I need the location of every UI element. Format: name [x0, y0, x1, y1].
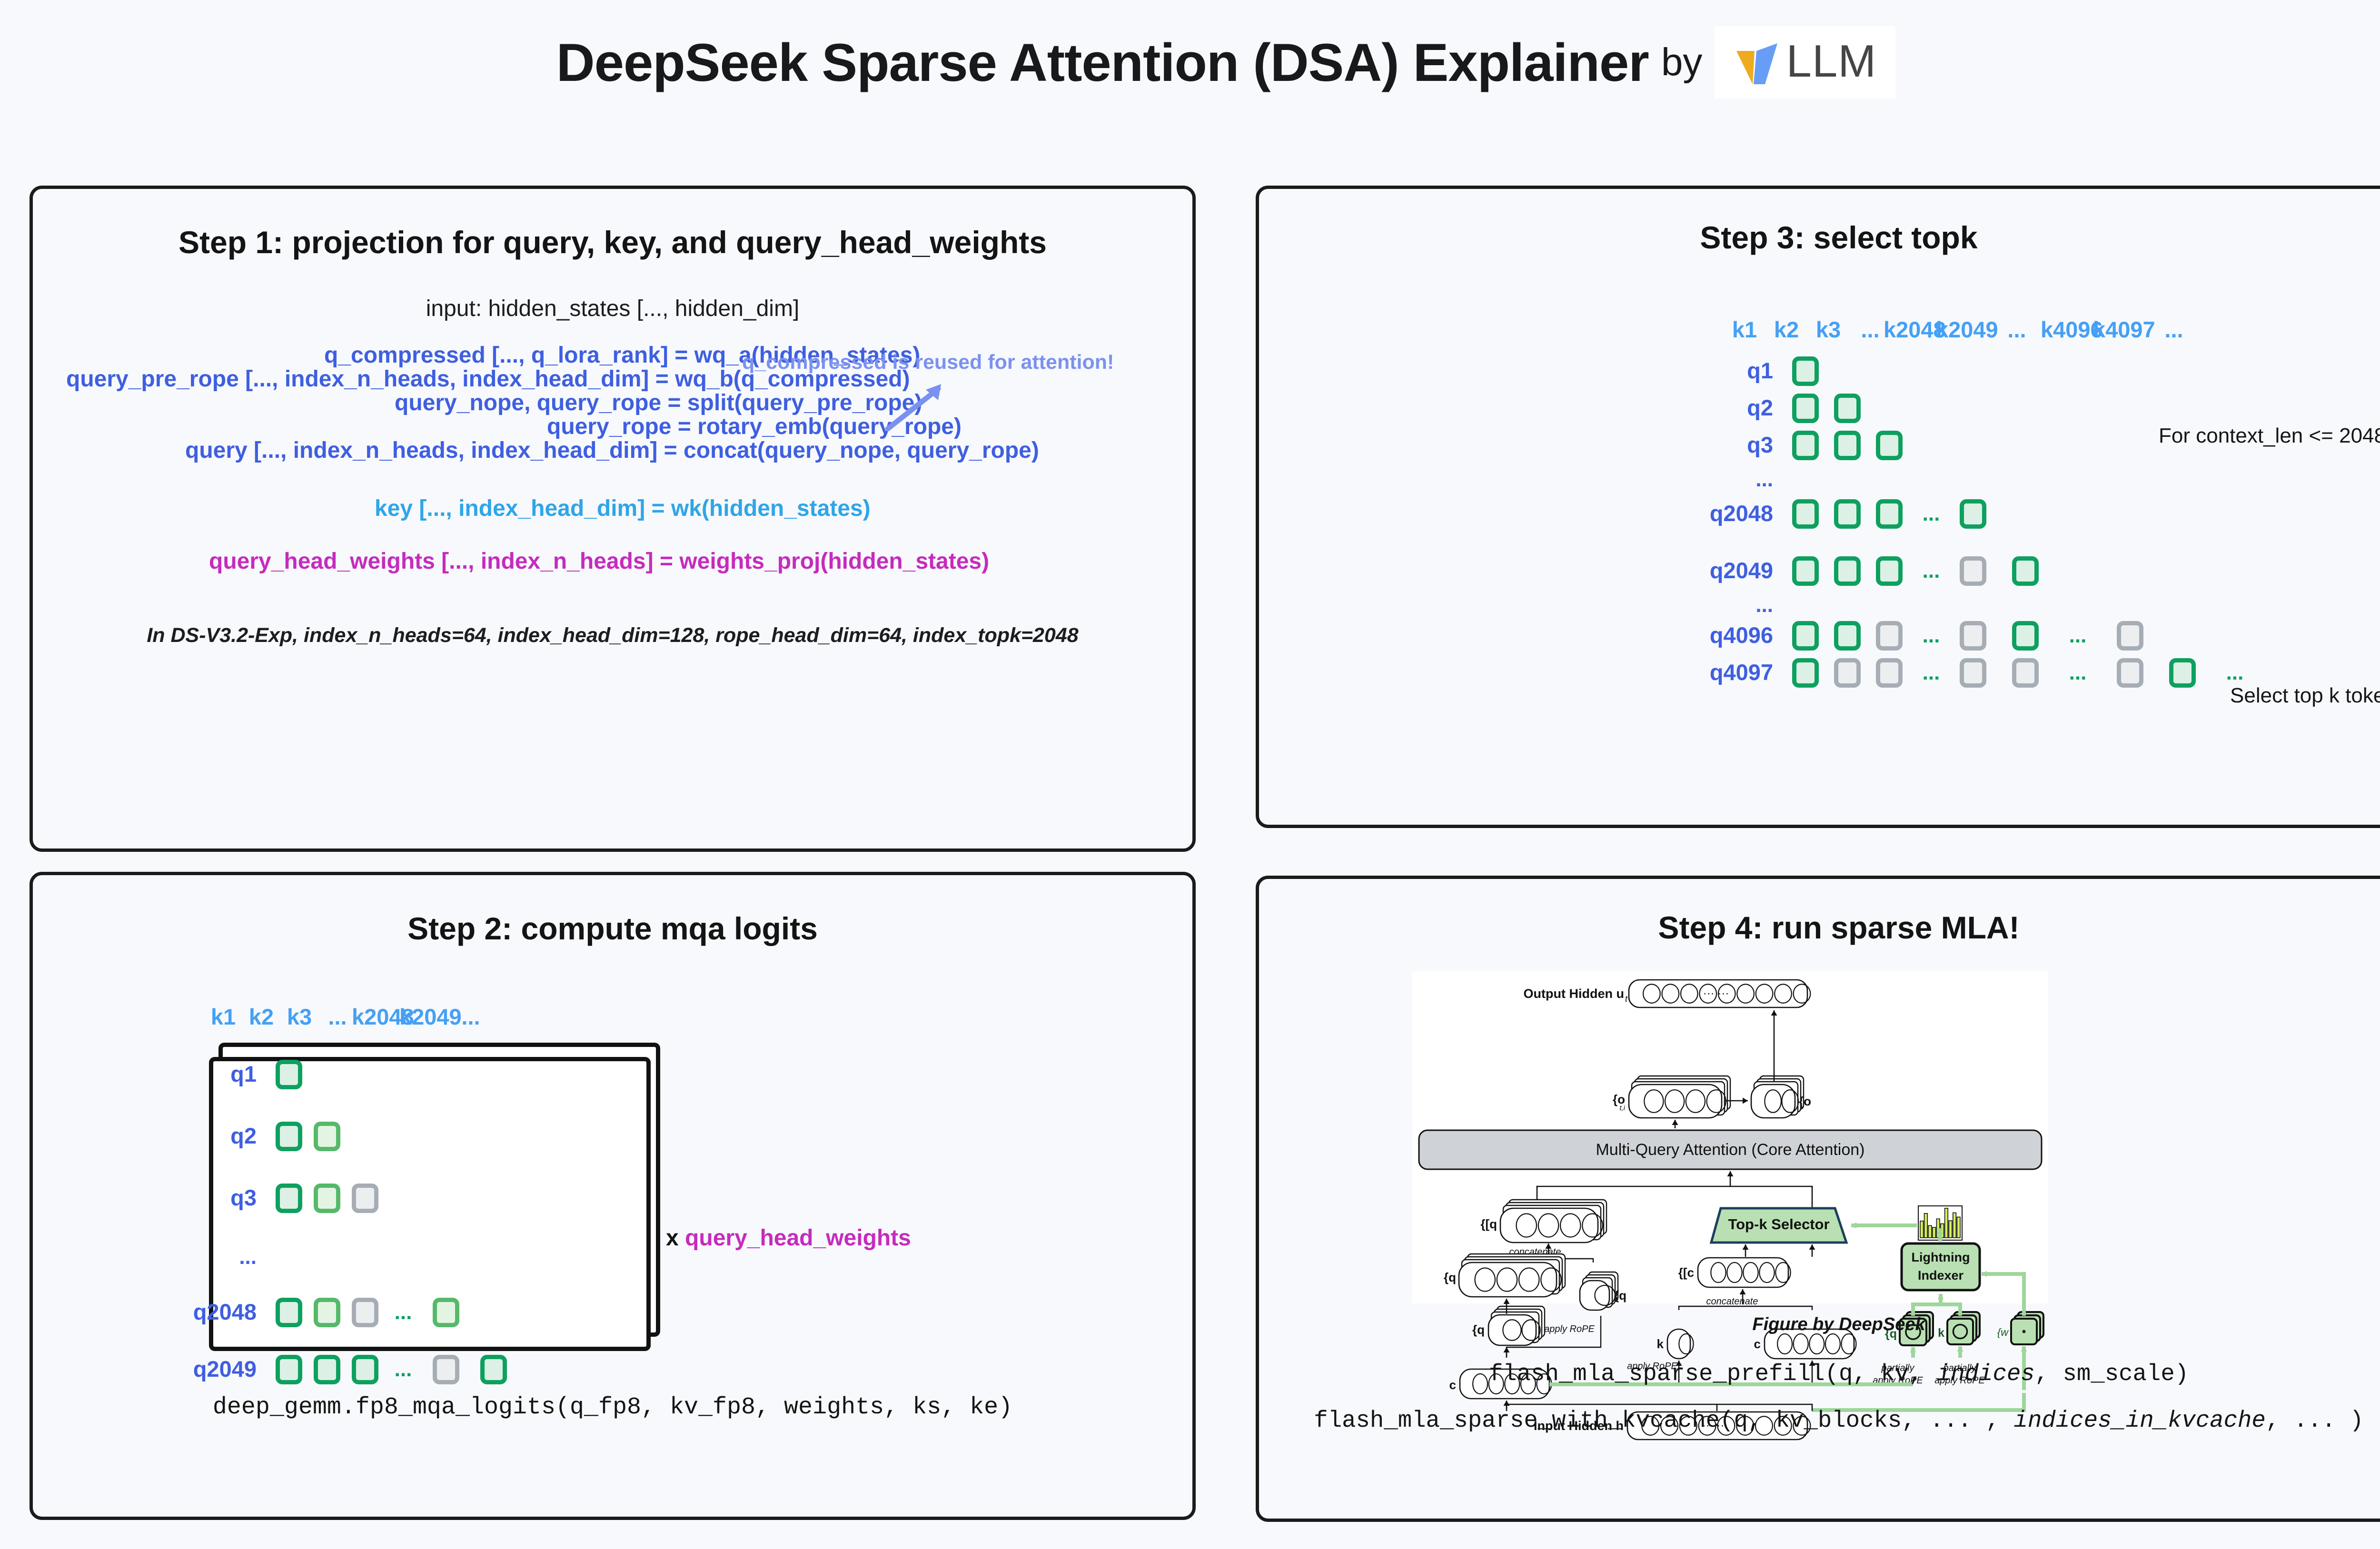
row-label-q1: q1 [1668, 357, 1773, 384]
step3-title: Step 3: select topk [1259, 219, 2380, 256]
grid-cell-green [276, 1122, 302, 1151]
row-label-q1: q1 [152, 1061, 257, 1087]
output-hidden-label: Output Hidden u [1524, 987, 1624, 1001]
step1-title: Step 1: projection for query, key, and q… [33, 224, 1192, 260]
arrow-scores-to-topk-head [1851, 1223, 1856, 1229]
step1-footnote: In DS-V3.2-Exp, index_n_heads=64, index_… [33, 624, 1192, 647]
lightning-indexer-label-1: Lightning [1912, 1250, 1970, 1264]
row-label-q2048: q2048 [1668, 500, 1773, 526]
grid-ellipsis: ... [2064, 667, 2091, 679]
grid-cell-green [1792, 394, 1819, 423]
concatenate-label-right: concatenate [1706, 1296, 1758, 1307]
arrow-to-q-indexer-head [1910, 1347, 1916, 1352]
grid-cell-green2 [314, 1298, 340, 1327]
grid-cell-gray [1960, 658, 1986, 688]
arrow-to-k-indexer-head [1957, 1346, 1963, 1352]
arrow-to-w-indexer-head [2021, 1346, 2027, 1352]
column-header-k4096: k4096 [2041, 316, 2098, 343]
grid-ellipsis: ... [1918, 630, 1944, 642]
ckv-label: c [1754, 1337, 1761, 1351]
vllm-v-icon [1734, 37, 1781, 86]
arrow-split-to-core-head [1727, 1171, 1734, 1176]
step4-code-2-italic: indices_in_kvcache [2014, 1407, 2266, 1434]
grid-cell-green [1834, 621, 1861, 651]
output-hidden-ellipsis: ··· ··· [1703, 987, 1729, 1000]
step2-title: Step 2: compute mqa logits [33, 910, 1192, 947]
grid-cell-green [1876, 499, 1903, 529]
score-bar [1949, 1221, 1952, 1238]
grid-ellipsis: ... [390, 1306, 416, 1319]
step4-code-2-a: flash_mla_sparse_with_kvcache(q, kv_bloc… [1314, 1407, 2013, 1434]
step2-query-head-weights-label: query_head_weights [685, 1225, 911, 1251]
panel-step3: Step 3: select topk k1k2k3...k2048k2049.… [1256, 186, 2380, 828]
score-bar [1957, 1217, 1960, 1238]
o-label: {o [1799, 1094, 1811, 1108]
row-label-q3: q3 [152, 1184, 257, 1211]
step4-code-1-b: , sm_scale) [2035, 1361, 2189, 1387]
grid-cell-green [352, 1355, 378, 1384]
step1-line-2: query_nope, query_rope = split(query_pre… [33, 391, 1192, 415]
w-to-indexer-path [1983, 1274, 2024, 1316]
arrow-concat-right-head [1740, 1289, 1746, 1294]
step1-line-6: query_head_weights [..., index_n_heads] … [33, 550, 1192, 573]
score-bar [1920, 1221, 1924, 1238]
grid-cell-gray [352, 1184, 378, 1213]
grid-cell-green [480, 1355, 507, 1384]
step1-line-5: key [..., index_head_dim] = wk(hidden_st… [33, 497, 1192, 521]
arrow-qc-to-qa-head [1504, 1299, 1510, 1304]
q-a-label: {q [1444, 1270, 1456, 1284]
row-label-q2048: q2048 [152, 1299, 257, 1325]
arrow-concat-left-head [1546, 1243, 1552, 1249]
core-attention-label: Multi-Query Attention (Core Attention) [1596, 1141, 1864, 1159]
grid-cell-gray [2117, 621, 2143, 651]
grid-cell-green [1834, 499, 1861, 529]
grid-cell-green [314, 1355, 340, 1384]
score-bar [1924, 1214, 1928, 1238]
q-r-label: {q [1614, 1288, 1626, 1302]
grid-cell-green [276, 1298, 302, 1327]
step4-code-1-italic: indices [1937, 1361, 2035, 1387]
grid-cell-gray [1876, 621, 1903, 651]
column-header-k4097: k4097 [2093, 316, 2150, 343]
grid-cell-gray [2012, 658, 2039, 688]
row-label-q2049: q2049 [1668, 557, 1773, 583]
page-title: DeepSeek Sparse Attention (DSA) Explaine… [556, 32, 1649, 93]
grid-cell-green [1960, 499, 1986, 529]
grid-cell-green [276, 1355, 302, 1384]
score-bar [1945, 1208, 1948, 1238]
column-header-dotsdotsdots: ... [1988, 316, 2045, 343]
grid-cell-green [1792, 621, 1819, 651]
row-label-ellipsis: ... [1668, 474, 1773, 485]
step4-code-line-1: flash_mla_sparse_prefill(q, kv, indices,… [1259, 1361, 2380, 1387]
arrow-cq-to-qc-head [1504, 1347, 1510, 1352]
page-header: DeepSeek Sparse Attention (DSA) Explaine… [0, 26, 2380, 99]
step1-line-4: query [..., index_n_heads, index_head_di… [33, 439, 1192, 463]
grid-cell-green [1876, 431, 1903, 460]
arrow-indexer-inputs-up-head [1938, 1294, 1944, 1299]
lightning-indexer-label-2: Indexer [1918, 1268, 1964, 1283]
arrow-to-topk-left-head [1743, 1244, 1749, 1250]
row-label-q4096: q4096 [1668, 622, 1773, 648]
output-hidden-subscript: t [1625, 994, 1628, 1004]
grid-cell-green2 [314, 1184, 340, 1213]
column-header-k2049: k2049 [1936, 316, 1993, 343]
column-header-dotsdotsdots: ... [2145, 316, 2202, 343]
step1-line-3: query_rope = rotary_emb(query_rope) [33, 415, 1192, 439]
grid-cell-gray [1834, 658, 1861, 688]
deepseek-architecture-figure: Output Hidden ut··· ···{ot,i{oMulti-Quer… [1412, 971, 2048, 1303]
kr-label: k [1657, 1337, 1664, 1351]
grid-cell-green [1792, 431, 1819, 460]
o-c-subscript: t,i [1619, 1104, 1625, 1112]
row-label-q2049: q2049 [152, 1356, 257, 1382]
grid-cell-green [1792, 356, 1819, 386]
grid-cell-green [1792, 499, 1819, 529]
step3-note-top: For context_len <= 2048, select all toke… [2159, 424, 2380, 448]
panel-step1: Step 1: projection for query, key, and q… [30, 186, 1196, 852]
grid-cell-gray [1960, 621, 1986, 651]
grid-cell-green [1834, 394, 1861, 423]
step2-multiply-label: x query_head_weights [666, 1225, 911, 1251]
grid-ellipsis: ... [390, 1363, 416, 1376]
grid-cell-green [1792, 556, 1819, 586]
column-header-dotsdotsdots: ... [442, 1004, 499, 1030]
vllm-logo-text: LLM [1786, 39, 1876, 84]
step1-code-lines: q_compressed [..., q_lora_rank] = wq_a(h… [33, 344, 1192, 573]
column-header-k2048: k2048 [1884, 316, 1941, 343]
arrow-oc-to-o-head [1743, 1098, 1748, 1104]
grid-cell-gray [1960, 556, 1986, 586]
grid-ellipsis: ... [2064, 630, 2091, 642]
grid-cell-green [1834, 556, 1861, 586]
grid-cell-gray [2117, 658, 2143, 688]
step2-multiply-symbol: x [666, 1225, 679, 1251]
grid-ellipsis: ... [2221, 667, 2248, 679]
grid-cell-green [1834, 431, 1861, 460]
page-root: DeepSeek Sparse Attention (DSA) Explaine… [0, 0, 2380, 1549]
score-bar [1928, 1225, 1932, 1238]
topk-selector-label: Top-k Selector [1728, 1216, 1829, 1233]
step4-code-1-a: flash_mla_sparse_prefill(q, kv, [1489, 1361, 1937, 1387]
step3-note-bottom: Select top k tokens [2230, 684, 2380, 708]
score-bar [1933, 1227, 1936, 1238]
grid-cell-green [2012, 621, 2039, 651]
row-label-q4097: q4097 [1668, 659, 1773, 685]
grid-cell-green [276, 1184, 302, 1213]
grid-cell-gray [433, 1355, 459, 1384]
row-label-ellipsis: ... [1668, 600, 1773, 611]
arrow-up-right-icon [885, 381, 947, 436]
q-ar-label: {[q [1480, 1217, 1497, 1231]
ckv-kr-label: {[c [1678, 1265, 1694, 1280]
row-label-ellipsis: ... [152, 1252, 257, 1263]
score-bar [1953, 1213, 1956, 1238]
grid-cell-green [276, 1060, 302, 1089]
arrow-o-to-output-head [1771, 1010, 1777, 1016]
grid-cell-gray [1876, 658, 1903, 688]
grid-ellipsis: ... [1918, 508, 1944, 520]
arrow-w-into-indexer-head [1982, 1271, 1987, 1277]
step4-figure-caption: Figure by DeepSeek [1259, 1314, 2380, 1335]
grid-cell-green [2012, 556, 2039, 586]
row-label-q2: q2 [152, 1123, 257, 1149]
step1-note: q_compressed is reused for attention! [742, 351, 1114, 374]
grid-cell-gray [352, 1298, 378, 1327]
byline-text: by [1661, 40, 1703, 85]
grid-cell-green [2169, 658, 2196, 688]
panel-step4: Step 4: run sparse MLA! Output Hidden ut… [1256, 876, 2380, 1522]
row-label-q3: q3 [1668, 432, 1773, 458]
step2-code: deep_gemm.fp8_mqa_logits(q_fp8, kv_fp8, … [33, 1394, 1192, 1421]
vllm-logo: LLM [1715, 26, 1895, 99]
row-label-q2: q2 [1668, 395, 1773, 421]
step4-code-2-b: , ... ) [2266, 1407, 2364, 1434]
grid-ellipsis: ... [1918, 667, 1944, 679]
grid-cell-green2 [433, 1298, 459, 1327]
arrow-core-to-oc-head [1672, 1120, 1678, 1125]
step4-title: Step 4: run sparse MLA! [1259, 909, 2380, 946]
step1-input-line: input: hidden_states [..., hidden_dim] [33, 296, 1192, 322]
grid-ellipsis: ... [1918, 565, 1944, 577]
grid-cell-green2 [314, 1122, 340, 1151]
step4-code-line-2: flash_mla_sparse_with_kvcache(q, kv_bloc… [1259, 1407, 2380, 1434]
arrow-to-topk-right-head [1809, 1244, 1815, 1250]
panel-step2: Step 2: compute mqa logits k1k2k3...k204… [30, 872, 1196, 1520]
grid-cell-green [1876, 556, 1903, 586]
concat-bus-right [1679, 1306, 1812, 1310]
grid-cell-green [1792, 658, 1819, 688]
split-bus [1537, 1186, 1812, 1188]
